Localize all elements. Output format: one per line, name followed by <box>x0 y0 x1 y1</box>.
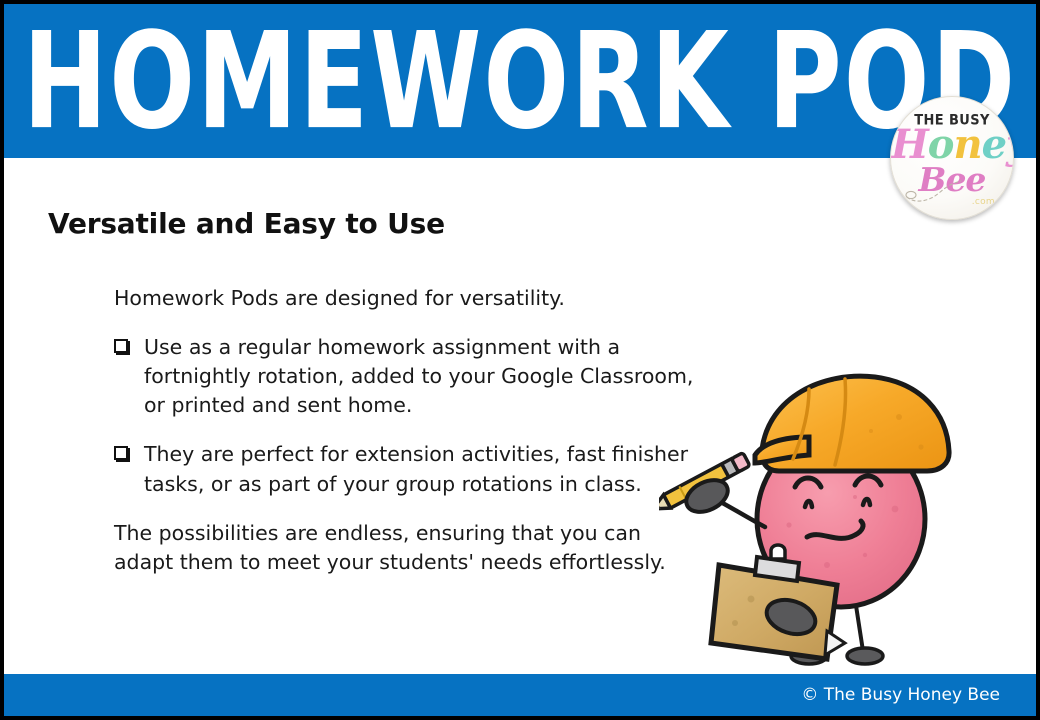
character-svg <box>659 359 979 674</box>
banner-title: HOMEWORK POD <box>19 14 1020 147</box>
logo-letter-h: H <box>891 125 928 165</box>
list-item: They are perfect for extension activitie… <box>114 440 694 498</box>
closing-paragraph: The possibilities are endless, ensuring … <box>114 519 694 577</box>
checkbox-square-icon <box>114 446 128 460</box>
intro-paragraph: Homework Pods are designed for versatili… <box>114 284 694 313</box>
slide-canvas: HOMEWORK POD THE BUSY Honey Bee .com Ver… <box>0 0 1040 720</box>
foot-right <box>847 648 883 664</box>
list-item-label: Use as a regular homework assignment wit… <box>144 333 694 420</box>
logo-letter-y: y <box>1006 125 1014 165</box>
logo-letter-o: o <box>928 125 954 165</box>
logo-honey-word: Honey <box>891 125 1013 165</box>
checkbox-square-icon <box>114 339 128 353</box>
list-item-label: They are perfect for extension activitie… <box>144 440 694 498</box>
logo-letter-e: e <box>982 125 1006 165</box>
hard-hat-icon <box>755 376 949 471</box>
copyright-credit: © The Busy Honey Bee <box>801 685 1000 705</box>
logo-dotcom-text: .com <box>972 197 995 207</box>
title-banner: HOMEWORK POD <box>4 4 1036 158</box>
footer-bar: © The Busy Honey Bee <box>4 674 1036 716</box>
bee-trail-swirl-icon <box>905 175 965 205</box>
logo-inner: THE BUSY Honey Bee .com <box>891 97 1013 219</box>
character-illustration <box>659 359 979 674</box>
list-item: Use as a regular homework assignment wit… <box>114 333 694 420</box>
logo-letter-n: n <box>953 125 981 165</box>
page-title: Versatile and Easy to Use <box>48 207 445 240</box>
busy-honey-bee-logo: THE BUSY Honey Bee .com <box>890 96 1014 220</box>
body-content: Homework Pods are designed for versatili… <box>114 284 694 577</box>
